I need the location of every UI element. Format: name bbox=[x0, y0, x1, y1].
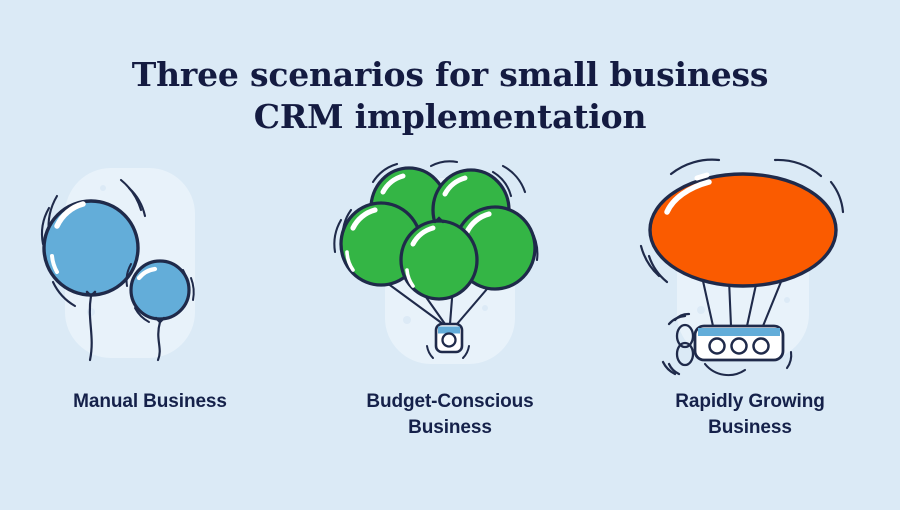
orange-hot-air-balloon-icon bbox=[635, 160, 865, 375]
infographic-canvas: Three scenarios for small business CRM i… bbox=[0, 0, 900, 510]
scenario-label-manual: Manual Business bbox=[73, 389, 227, 415]
scenario-manual: Manual Business bbox=[0, 160, 300, 415]
title-line-1: Three scenarios for small business bbox=[0, 54, 900, 96]
scenario-budget-conscious: Budget-Conscious Business bbox=[300, 160, 600, 441]
two-blue-balloons-icon bbox=[35, 160, 265, 375]
page-title: Three scenarios for small business CRM i… bbox=[0, 54, 900, 138]
green-balloon-cluster-icon bbox=[335, 160, 565, 375]
scenario-label-rapidly-growing: Rapidly Growing Business bbox=[643, 389, 858, 441]
title-line-2: CRM implementation bbox=[0, 96, 900, 138]
scenario-columns: Manual Business bbox=[0, 160, 900, 460]
scenario-rapidly-growing: Rapidly Growing Business bbox=[600, 160, 900, 441]
scenario-label-budget-conscious: Budget-Conscious Business bbox=[343, 389, 558, 441]
